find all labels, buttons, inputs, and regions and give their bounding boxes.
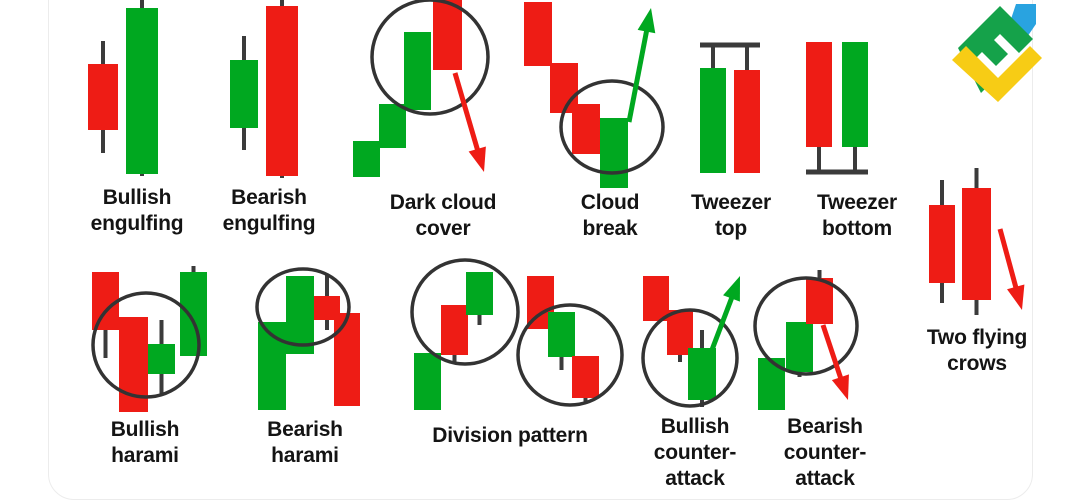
- pattern-label-bearish-engulfing: Bearish engulfing: [210, 185, 328, 237]
- pattern-label-tweezer-bottom: Tweezer bottom: [794, 190, 920, 242]
- pattern-label-two-flying-crows: Two flying crows: [914, 325, 1040, 377]
- pattern-label-bearish-harami: Bearish harami: [246, 417, 364, 469]
- pattern-label-division-pattern: Division pattern: [420, 423, 600, 449]
- pattern-label-cloud-break: Cloud break: [556, 190, 664, 242]
- candlestick-cheatsheet: Bullish engulfingBearish engulfingDark c…: [0, 0, 1075, 503]
- pattern-label-bullish-engulfing: Bullish engulfing: [78, 185, 196, 237]
- pattern-label-bullish-counterattack: Bullish counter- attack: [640, 414, 750, 492]
- pattern-label-dark-cloud-cover: Dark cloud cover: [378, 190, 508, 242]
- brand-logo: [950, 0, 1042, 106]
- pattern-label-bearish-counterattack: Bearish counter- attack: [770, 414, 880, 492]
- pattern-label-bullish-harami: Bullish harami: [86, 417, 204, 469]
- pattern-label-tweezer-top: Tweezer top: [672, 190, 790, 242]
